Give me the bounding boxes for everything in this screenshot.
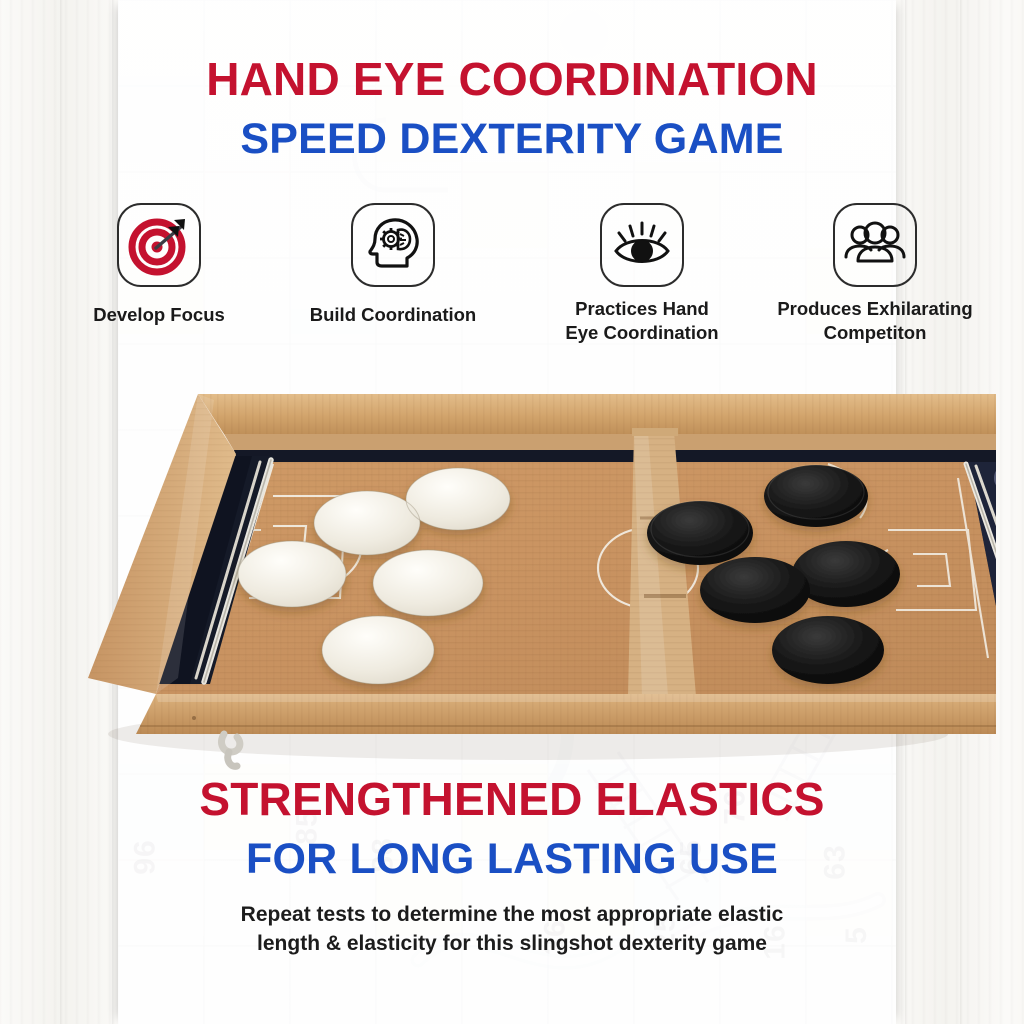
feature-icon-box	[117, 203, 201, 287]
head-gear-brain-icon	[362, 214, 424, 276]
headline-line2: SPEED DEXTERITY GAME	[0, 115, 1024, 164]
headline-line1: HAND EYE COORDINATION	[0, 52, 1024, 106]
footer-body-line2: length & elasticity for this slingshot d…	[0, 929, 1024, 959]
eye-icon	[610, 213, 674, 277]
feature-produces-competition: Produces Exhilarating Competiton	[755, 203, 995, 344]
poster-canvas: 94 87 95 86 85 76 96 36 25 16 5 88 65 63…	[0, 0, 1024, 1024]
footer-line1-wrap: STRENGTHENED ELASTICS	[0, 772, 1024, 826]
feature-develop-focus: Develop Focus	[73, 203, 245, 327]
feature-icon-box	[833, 203, 917, 287]
feature-label: Develop Focus	[73, 303, 245, 327]
footer-body-line1: Repeat tests to determine the most appro…	[0, 900, 1024, 930]
feature-label: Practices Hand Eye Coordination	[552, 297, 732, 344]
feature-practices-hand-eye: Practices Hand Eye Coordination	[552, 203, 732, 344]
board-illustration: FOOTBALL	[28, 378, 996, 778]
footer-line1: STRENGTHENED ELASTICS	[0, 772, 1024, 826]
feature-icon-box	[351, 203, 435, 287]
footer-line2: FOR LONG LASTING USE	[0, 835, 1024, 884]
headline-line1-wrap: HAND EYE COORDINATION	[0, 52, 1024, 106]
feature-label: Produces Exhilarating Competiton	[755, 297, 995, 344]
target-arrow-icon	[128, 214, 190, 276]
feature-label: Build Coordination	[307, 303, 479, 327]
footer-line2-wrap: FOR LONG LASTING USE	[0, 835, 1024, 884]
feature-build-coordination: Build Coordination	[307, 203, 479, 327]
headline-line2-wrap: SPEED DEXTERITY GAME	[0, 115, 1024, 164]
feature-icon-box	[600, 203, 684, 287]
product-photo-sling-puck-board: FOOTBALL	[28, 378, 996, 778]
people-group-icon	[843, 213, 907, 277]
